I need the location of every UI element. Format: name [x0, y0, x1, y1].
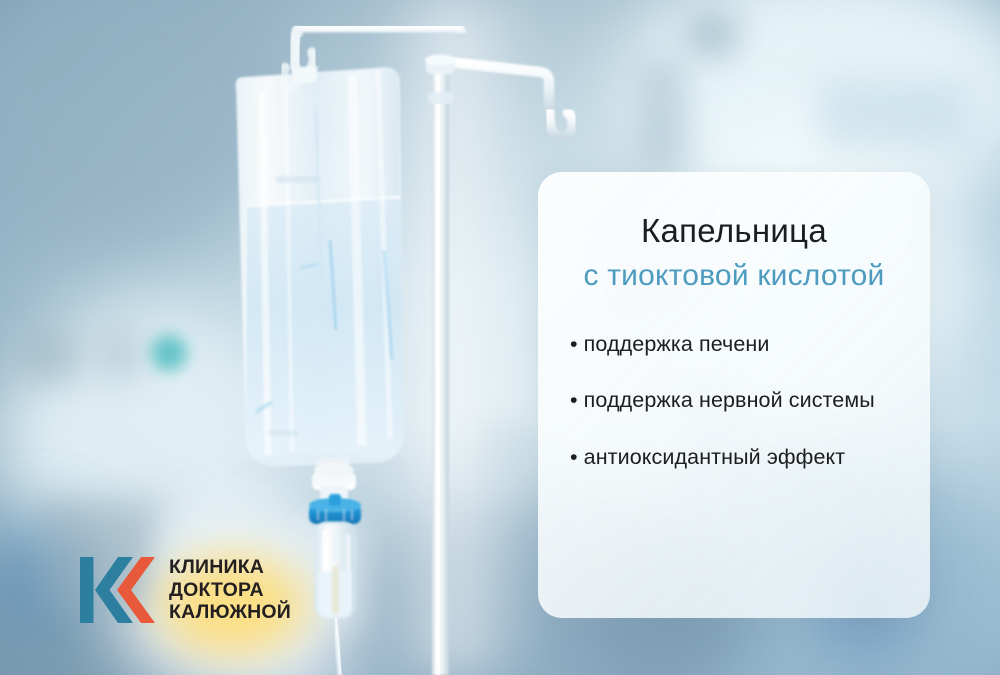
bullet-dot-icon: • — [570, 331, 578, 357]
clinic-logo[interactable]: КЛИНИКА ДОКТОРА КАЛЮЖНОЙ — [78, 553, 291, 627]
benefit-label-2: поддержка нервной системы — [584, 388, 875, 412]
promo-banner: Капельница с тиоктовой кислотой •поддерж… — [0, 0, 1000, 675]
logo-line-2: ДОКТОРА — [169, 579, 291, 602]
bullet-dot-icon: • — [570, 444, 578, 470]
bullet-dot-icon: • — [570, 387, 578, 413]
benefits-list: •поддержка печени •поддержка нервной сис… — [564, 331, 904, 470]
info-card: Капельница с тиоктовой кислотой •поддерж… — [538, 172, 930, 618]
card-title-line-2: с тиоктовой кислотой — [564, 260, 904, 292]
benefit-label-3: антиоксидантный эффект — [584, 445, 846, 469]
benefit-item-3: •антиоксидантный эффект — [570, 444, 904, 470]
benefit-item-1: •поддержка печени — [570, 331, 904, 357]
card-title-line-1: Капельница — [564, 214, 904, 249]
benefit-item-2: •поддержка нервной системы — [570, 387, 904, 413]
clinic-logo-text: КЛИНИКА ДОКТОРА КАЛЮЖНОЙ — [169, 556, 291, 624]
logo-line-3: КАЛЮЖНОЙ — [169, 601, 291, 624]
benefit-label-1: поддержка печени — [584, 332, 770, 356]
kk-monogram-icon — [78, 553, 156, 627]
logo-line-1: КЛИНИКА — [169, 556, 291, 579]
